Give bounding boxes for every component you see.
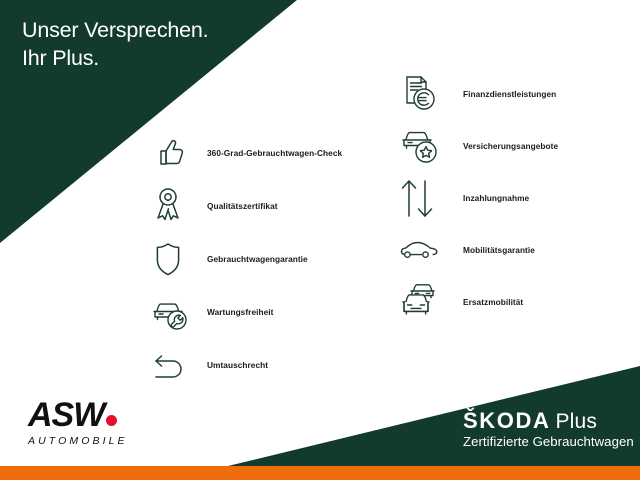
feature-label: Versicherungsangebote (463, 141, 558, 151)
skoda-plus-label: Plus (555, 410, 597, 433)
feature-item: Gebrauchtwagengarantie (148, 232, 342, 285)
return-arrow-icon (148, 341, 204, 389)
up-down-arrows-icon (398, 174, 454, 222)
feature-item: Wartungsfreiheit (148, 285, 342, 338)
feature-list-right: Finanzdienstleistungen Versicherungsange… (398, 68, 558, 328)
asw-red-dot (106, 415, 117, 426)
document-euro-icon (398, 70, 454, 118)
headline: Unser Versprechen. Ihr Plus. (22, 16, 208, 73)
feature-label: Finanzdienstleistungen (463, 89, 556, 99)
feature-label: 360-Grad-Gebrauchtwagen-Check (207, 148, 342, 158)
feature-item: Ersatzmobilität (398, 276, 558, 328)
feature-item: Finanzdienstleistungen (398, 68, 558, 120)
shield-icon (148, 235, 204, 283)
feature-item: Inzahlungnahme (398, 172, 558, 224)
feature-label: Wartungsfreiheit (207, 307, 273, 317)
feature-label: Mobilitätsgarantie (463, 245, 535, 255)
skoda-plus-row: ŠKODAPlus (463, 410, 634, 432)
car-side-icon (398, 226, 454, 274)
car-wrench-icon (148, 288, 204, 336)
feature-item: Mobilitätsgarantie (398, 224, 558, 276)
promo-banner: Unser Versprechen. Ihr Plus. 360-Grad-Ge… (0, 0, 640, 480)
headline-line-2: Ihr Plus. (22, 44, 208, 72)
skoda-plus-logo: ŠKODAPlus Zertifizierte Gebrauchtwagen (463, 410, 634, 449)
feature-item: Versicherungsangebote (398, 120, 558, 172)
feature-label: Umtauschrecht (207, 360, 268, 370)
feature-item: 360-Grad-Gebrauchtwagen-Check (148, 126, 342, 179)
feature-label: Ersatzmobilität (463, 297, 523, 307)
feature-label: Qualitätszertifikat (207, 201, 278, 211)
feature-label: Gebrauchtwagengarantie (207, 254, 308, 264)
feature-list-left: 360-Grad-Gebrauchtwagen-Check Qualitätsz… (148, 126, 342, 391)
car-star-icon (398, 122, 454, 170)
feature-item: Qualitätszertifikat (148, 179, 342, 232)
headline-line-1: Unser Versprechen. (22, 18, 208, 42)
skoda-subtitle: Zertifizierte Gebrauchtwagen (463, 434, 634, 449)
skoda-wordmark: ŠKODA (463, 408, 550, 433)
thumbs-up-icon (148, 129, 204, 177)
feature-item: Umtauschrecht (148, 338, 342, 391)
asw-wordmark-row: ASW (28, 398, 158, 432)
asw-subtitle: AUTOMOBILE (28, 435, 158, 447)
feature-label: Inzahlungnahme (463, 193, 529, 203)
two-cars-icon (398, 278, 454, 326)
asw-wordmark: ASW (28, 398, 104, 432)
orange-footer-bar (0, 466, 640, 480)
asw-logo: ASW AUTOMOBILE (28, 398, 158, 447)
award-rosette-icon (148, 182, 204, 230)
